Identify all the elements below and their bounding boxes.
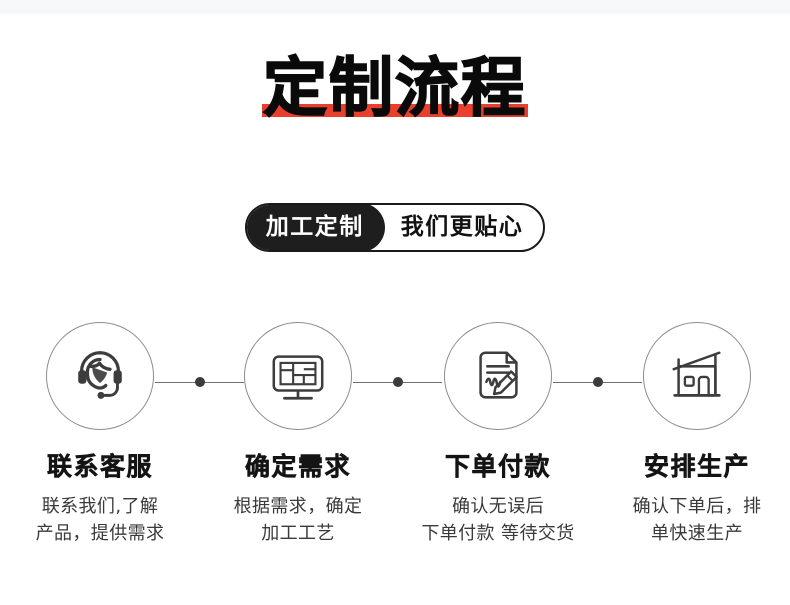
step-1-title: 联系客服 <box>5 452 195 482</box>
process-step-4: 安排生产 确认下单后，排 单快速生产 <box>602 322 790 548</box>
badge-row: 加工定制 我们更贴心 <box>0 203 790 252</box>
process-step-2: 确定需求 根据需求，确定 加工工艺 <box>203 322 393 548</box>
connector-dot <box>593 377 603 387</box>
step-1-icon-circle <box>46 322 154 430</box>
step-3-description: 确认无误后 下单付款 等待交货 <box>403 493 593 548</box>
connector-dot <box>393 377 403 387</box>
step-4-desc-line-1: 确认下单后，排 <box>602 493 790 520</box>
step-4-description: 确认下单后，排 单快速生产 <box>602 493 790 548</box>
badge-left-segment: 加工定制 <box>245 203 385 252</box>
step-connector-3-4 <box>553 375 642 389</box>
monitor-blueprint-icon <box>267 345 329 407</box>
step-2-title: 确定需求 <box>203 452 393 482</box>
step-2-icon-circle <box>244 322 352 430</box>
step-1-desc-line-2: 产品，提供需求 <box>5 520 195 547</box>
process-step-3: 下单付款 确认无误后 下单付款 等待交货 <box>403 322 593 548</box>
tagline-badge: 加工定制 我们更贴心 <box>245 203 546 252</box>
signed-document-pencil-icon <box>467 345 529 407</box>
top-edge-tint <box>0 0 790 14</box>
step-connector-2-3 <box>353 375 442 389</box>
step-1-desc-line-1: 联系我们,了解 <box>5 493 195 520</box>
process-steps: 联系客服 联系我们,了解 产品，提供需求 <box>0 322 790 562</box>
step-3-title: 下单付款 <box>403 452 593 482</box>
title-with-underline: 定制流程 <box>259 55 531 124</box>
step-connector-1-2 <box>155 375 244 389</box>
step-3-icon-circle <box>444 322 552 430</box>
step-2-desc-line-2: 加工工艺 <box>203 520 393 547</box>
page-title-block: 定制流程 <box>0 55 790 124</box>
step-3-desc-line-1: 确认无误后 <box>403 493 593 520</box>
step-3-desc-line-2: 下单付款 等待交货 <box>403 520 593 547</box>
step-2-desc-line-1: 根据需求，确定 <box>203 493 393 520</box>
customization-process-page: 定制流程 加工定制 我们更贴心 <box>0 0 790 605</box>
step-4-desc-line-2: 单快速生产 <box>602 520 790 547</box>
page-title: 定制流程 <box>263 52 527 126</box>
connector-dot <box>195 377 205 387</box>
headset-icon <box>69 345 131 407</box>
step-4-icon-circle <box>643 322 751 430</box>
step-2-description: 根据需求，确定 加工工艺 <box>203 493 393 548</box>
factory-building-icon <box>666 345 728 407</box>
step-4-title: 安排生产 <box>602 452 790 482</box>
step-1-description: 联系我们,了解 产品，提供需求 <box>5 493 195 548</box>
badge-right-segment: 我们更贴心 <box>385 205 544 250</box>
process-step-1: 联系客服 联系我们,了解 产品，提供需求 <box>5 322 195 548</box>
